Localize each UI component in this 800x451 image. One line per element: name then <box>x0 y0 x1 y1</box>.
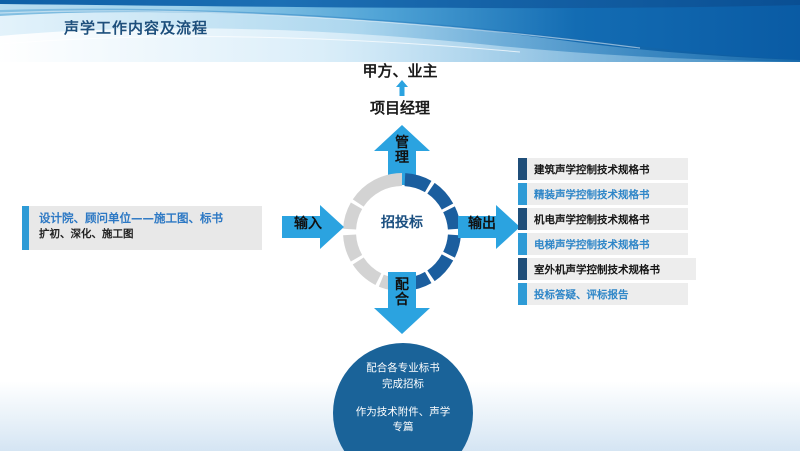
item-accent-bar <box>518 208 527 230</box>
donut-center-label: 招投标 <box>342 212 462 232</box>
item-accent-bar <box>518 158 527 180</box>
list-item: 建筑声学控制技术规格书 <box>518 158 688 180</box>
list-item-label: 机电声学控制技术规格书 <box>527 212 650 227</box>
item-accent-bar <box>518 283 527 305</box>
circle-line2: 完成招标 <box>333 377 473 393</box>
list-item-label: 投标答疑、评标报告 <box>527 287 629 302</box>
circle-line1: 配合各专业标书 <box>333 361 473 377</box>
page-title: 声学工作内容及流程 <box>64 17 208 38</box>
list-item: 室外机声学控制技术规格书 <box>518 258 696 280</box>
circle-line3: 作为技术附件、声学 <box>333 405 473 421</box>
list-item-label: 建筑声学控制技术规格书 <box>527 162 650 177</box>
slide-canvas: 声学工作内容及流程 甲方、业主 项目经理 管 理 招投标 <box>0 0 800 451</box>
label-party-a: 甲方、业主 <box>340 60 460 81</box>
list-item-label: 电梯声学控制技术规格书 <box>527 237 650 252</box>
input-card-accent-bar <box>22 206 29 250</box>
mini-up-arrow-icon <box>395 80 409 96</box>
list-item: 电梯声学控制技术规格书 <box>518 233 688 255</box>
arrow-input-label: 输入 <box>286 217 330 232</box>
bottom-outcome-circle: 配合各专业标书 完成招标 作为技术附件、声学 专篇 <box>333 343 473 451</box>
arrow-up-label: 管 理 <box>372 136 432 165</box>
output-deliverables-list: 建筑声学控制技术规格书 精装声学控制技术规格书 机电声学控制技术规格书 电梯声学… <box>518 158 688 308</box>
list-item: 精装声学控制技术规格书 <box>518 183 688 205</box>
input-source-card: 设计院、顾问单位——施工图、标书 扩初、深化、施工图 <box>22 206 262 250</box>
list-item: 机电声学控制技术规格书 <box>518 208 688 230</box>
label-project-manager: 项目经理 <box>340 97 460 118</box>
item-accent-bar <box>518 258 527 280</box>
input-card-body: 设计院、顾问单位——施工图、标书 扩初、深化、施工图 <box>29 206 262 250</box>
list-item-label: 室外机声学控制技术规格书 <box>527 262 660 277</box>
header-banner: 声学工作内容及流程 <box>0 0 800 62</box>
input-card-line1: 设计院、顾问单位——施工图、标书 <box>39 210 262 227</box>
circle-line4: 专篇 <box>333 420 473 436</box>
list-item: 投标答疑、评标报告 <box>518 283 688 305</box>
item-accent-bar <box>518 183 527 205</box>
list-item-label: 精装声学控制技术规格书 <box>527 187 650 202</box>
arrow-output-label: 输出 <box>460 217 504 232</box>
input-card-line2: 扩初、深化、施工图 <box>39 227 262 243</box>
arrow-down-label: 配 合 <box>372 278 432 307</box>
item-accent-bar <box>518 233 527 255</box>
